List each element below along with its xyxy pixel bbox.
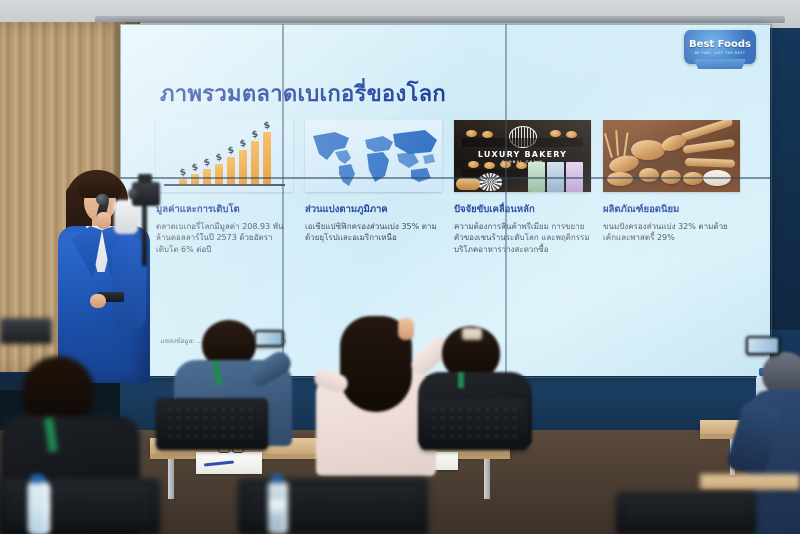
panel-seam <box>505 24 507 376</box>
slide-column-regional-share: ส่วนแบ่งตามภูมิภาค เอเชียแปซิฟิกครองส่วน… <box>305 120 442 256</box>
conference-room-scene: ภาพรวมตลาดเบเกอรี่ของโลก Best Foods BE F… <box>0 0 800 534</box>
baguette <box>682 139 735 154</box>
laptop <box>0 318 52 344</box>
slide-columns: มูลค่าและการเติบโต ตลาดเบเกอรี่โลกมีมูลค… <box>156 120 746 256</box>
wheat-stalk <box>615 130 619 156</box>
bread-item <box>566 131 577 138</box>
microphone-head <box>96 194 109 205</box>
bottle-label <box>268 500 288 513</box>
camera-top-handle <box>138 174 152 183</box>
bread-item <box>466 130 477 137</box>
column-heading: มูลค่าและการเติบโต <box>156 204 293 216</box>
phone-screen <box>748 338 778 353</box>
logo-ribbon <box>694 59 746 69</box>
bread-item <box>484 162 495 169</box>
chair-foreground <box>238 478 428 534</box>
chart-bar <box>191 174 199 184</box>
logo-tagline: BE FINE, JUST THE BEST <box>695 51 746 55</box>
wheat-stalk <box>604 133 613 159</box>
world-map <box>305 120 442 192</box>
smartphone-recording <box>254 330 284 347</box>
tripod-pole <box>142 206 147 266</box>
chair-foreground <box>616 492 756 534</box>
baguette <box>685 158 735 168</box>
chart-bar <box>215 164 223 184</box>
world-map-svg <box>305 120 442 192</box>
column-heading: ปัจจัยขับเคลื่อนหลัก <box>454 204 591 216</box>
presenter-hand <box>96 212 111 229</box>
column-heading: ส่วนแบ่งตามภูมิภาค <box>305 204 442 216</box>
bread-item <box>468 161 479 168</box>
lanyard <box>458 372 464 388</box>
column-body: ขนมปังครองส่วนแบ่ง 32% ตามด้วยเค้กและพาส… <box>603 221 740 244</box>
raised-hand <box>398 318 414 340</box>
column-heading: ผลิตภัณฑ์ยอดนิยม <box>603 204 740 216</box>
chair <box>420 398 528 450</box>
breads-photo <box>603 120 740 192</box>
slide-column-value-growth: มูลค่าและการเติบโต ตลาดเบเกอรี่โลกมีมูลค… <box>156 120 293 256</box>
panel-seam <box>120 177 770 179</box>
video-camera <box>128 172 162 218</box>
logo-text: Best Foods <box>689 40 751 50</box>
bakery-photo: LUXURY BAKERY GLOBAL CHAIN <box>454 120 591 192</box>
phone-screen <box>256 332 282 345</box>
bottle-cap <box>271 475 283 483</box>
hair-clip <box>462 328 482 340</box>
slide-title: ภาพรวมตลาดเบเกอรี่ของโลก <box>160 76 446 111</box>
bread-display <box>456 178 480 190</box>
bottle-cap <box>31 475 43 483</box>
bread-loaf <box>607 172 633 186</box>
water-bottle <box>268 482 288 534</box>
best-foods-logo: Best Foods BE FINE, JUST THE BEST <box>684 30 756 64</box>
bar-chart-growth-icon <box>156 120 293 192</box>
world-map-icon <box>305 120 442 192</box>
table-leg <box>484 459 490 499</box>
bakery-shelf <box>462 138 583 147</box>
chair <box>156 398 268 450</box>
table-foreground <box>700 474 800 490</box>
chair-foreground <box>0 478 160 534</box>
chart-bar <box>227 157 235 184</box>
ceiling-light-strip <box>95 16 785 23</box>
bakery-name: LUXURY BAKERY <box>454 150 591 159</box>
table-leg <box>168 459 174 499</box>
smartphone-recording <box>746 336 780 355</box>
bread-item <box>550 130 561 137</box>
baguette <box>680 120 734 142</box>
wheat-stalk <box>623 132 629 158</box>
cake-display <box>478 173 502 191</box>
water-bottle <box>28 482 48 534</box>
bar-chart <box>156 120 293 192</box>
bread-item <box>482 131 493 138</box>
luxury-bakery-storefront-photo: LUXURY BAKERY GLOBAL CHAIN <box>454 120 591 192</box>
column-body: ความต้องการสินค้าพรีเมียม การขยายตัวของเ… <box>454 221 591 256</box>
assorted-breads-photo <box>603 120 740 192</box>
slide-column-key-drivers: LUXURY BAKERY GLOBAL CHAIN <box>454 120 591 256</box>
column-body: ตลาดเบเกอรี่โลกมีมูลค่า 208.93 พันล้านดอ… <box>156 221 293 256</box>
camera-lens <box>128 188 140 200</box>
chart-bar <box>179 179 187 184</box>
bread-roll <box>639 168 659 182</box>
presenter-arm <box>112 238 146 330</box>
presenter-hand-lower <box>90 294 106 308</box>
column-body: เอเชียแปซิฟิกครองส่วนแบ่ง 35% ตามด้วยยุโ… <box>305 221 442 244</box>
slide-column-popular-products: ผลิตภัณฑ์ยอดนิยม ขนมปังครองส่วนแบ่ง 32% … <box>603 120 740 256</box>
bread-item <box>516 162 527 169</box>
chart-baseline <box>164 184 285 186</box>
